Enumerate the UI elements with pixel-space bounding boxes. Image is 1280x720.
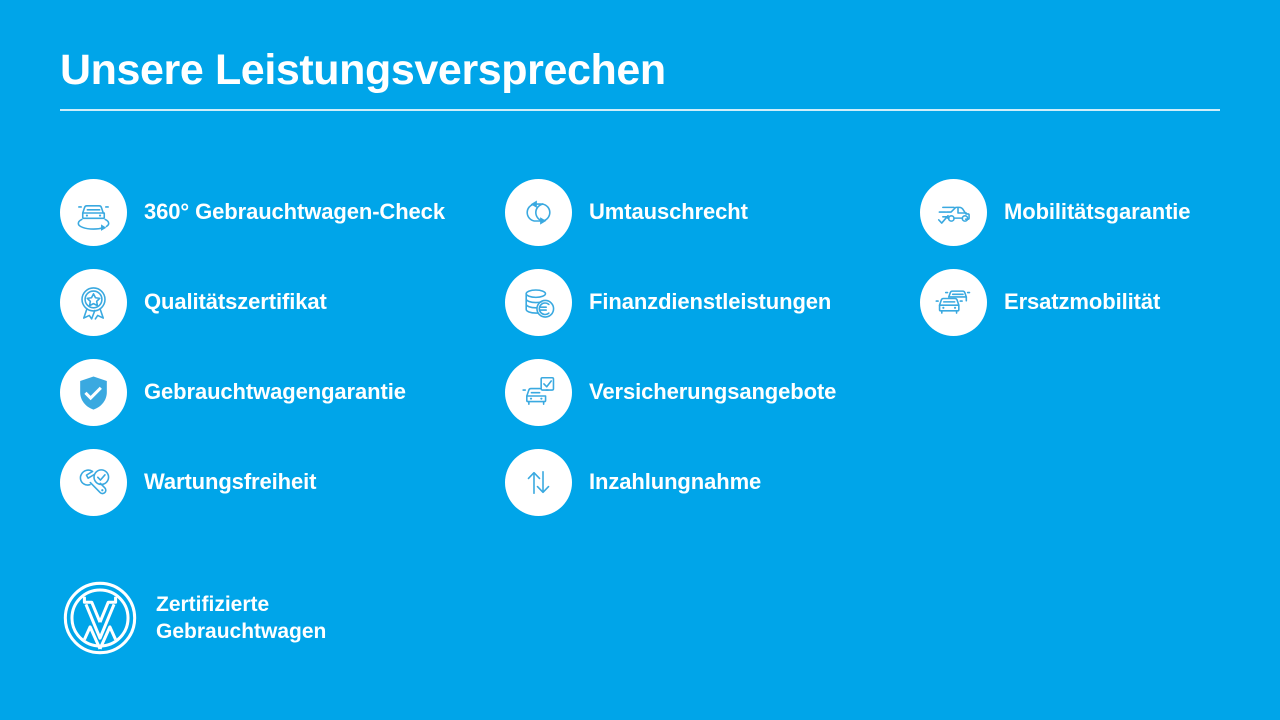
arrows-up-down-icon [505, 449, 572, 516]
brand-text: Zertifizierte Gebrauchtwagen [156, 591, 326, 646]
wrench-check-icon [60, 449, 127, 516]
feature-label: Finanzdienstleistungen [589, 289, 831, 315]
feature-label: Wartungsfreiheit [144, 469, 316, 495]
page-title: Unsere Leistungsversprechen [60, 48, 1220, 93]
slide-header: Unsere Leistungsversprechen [60, 48, 1220, 111]
car-checkbox-icon [505, 359, 572, 426]
feature-item-versicherungsangebote: Versicherungsangebote [505, 358, 920, 426]
slide: Unsere Leistungsversprechen 360° Gebr [0, 0, 1280, 720]
feature-label: Gebrauchtwagengarantie [144, 379, 406, 405]
brand-line-2: Gebrauchtwagen [156, 618, 326, 645]
car-motion-icon [920, 179, 987, 246]
feature-item-qualitaetszertifikat: Qualitätszertifikat [60, 268, 505, 336]
quality-award-icon [60, 269, 127, 336]
volkswagen-logo [62, 580, 138, 656]
feature-item-360-gebrauchtwagen-check: 360° Gebrauchtwagen-Check [60, 178, 505, 246]
feature-item-finanzdienstleistungen: Finanzdienstleistungen [505, 268, 920, 336]
feature-grid: 360° Gebrauchtwagen-Check Qualitätszerti… [60, 178, 1250, 538]
feature-item-ersatzmobilitaet: Ersatzmobilität [920, 268, 1250, 336]
feature-label: Inzahlungnahme [589, 469, 761, 495]
feature-label: Umtauschrecht [589, 199, 748, 225]
brand-line-1: Zertifizierte [156, 591, 326, 618]
feature-label: Mobilitätsgarantie [1004, 199, 1190, 225]
shield-check-icon [60, 359, 127, 426]
title-divider [60, 109, 1220, 111]
feature-item-umtauschrecht: Umtauschrecht [505, 178, 920, 246]
feature-item-gebrauchtwagengarantie: Gebrauchtwagengarantie [60, 358, 505, 426]
feature-label: Versicherungsangebote [589, 379, 836, 405]
feature-item-inzahlungnahme: Inzahlungnahme [505, 448, 920, 516]
feature-label: Qualitätszertifikat [144, 289, 327, 315]
coins-euro-icon [505, 269, 572, 336]
feature-label: Ersatzmobilität [1004, 289, 1160, 315]
feature-item-mobilitaetsgarantie: Mobilitätsgarantie [920, 178, 1250, 246]
exchange-arrows-icon [505, 179, 572, 246]
two-cars-icon [920, 269, 987, 336]
feature-item-wartungsfreiheit: Wartungsfreiheit [60, 448, 505, 516]
car-360-check-icon [60, 179, 127, 246]
brand-lockup: Zertifizierte Gebrauchtwagen [62, 580, 326, 656]
feature-label: 360° Gebrauchtwagen-Check [144, 199, 445, 225]
